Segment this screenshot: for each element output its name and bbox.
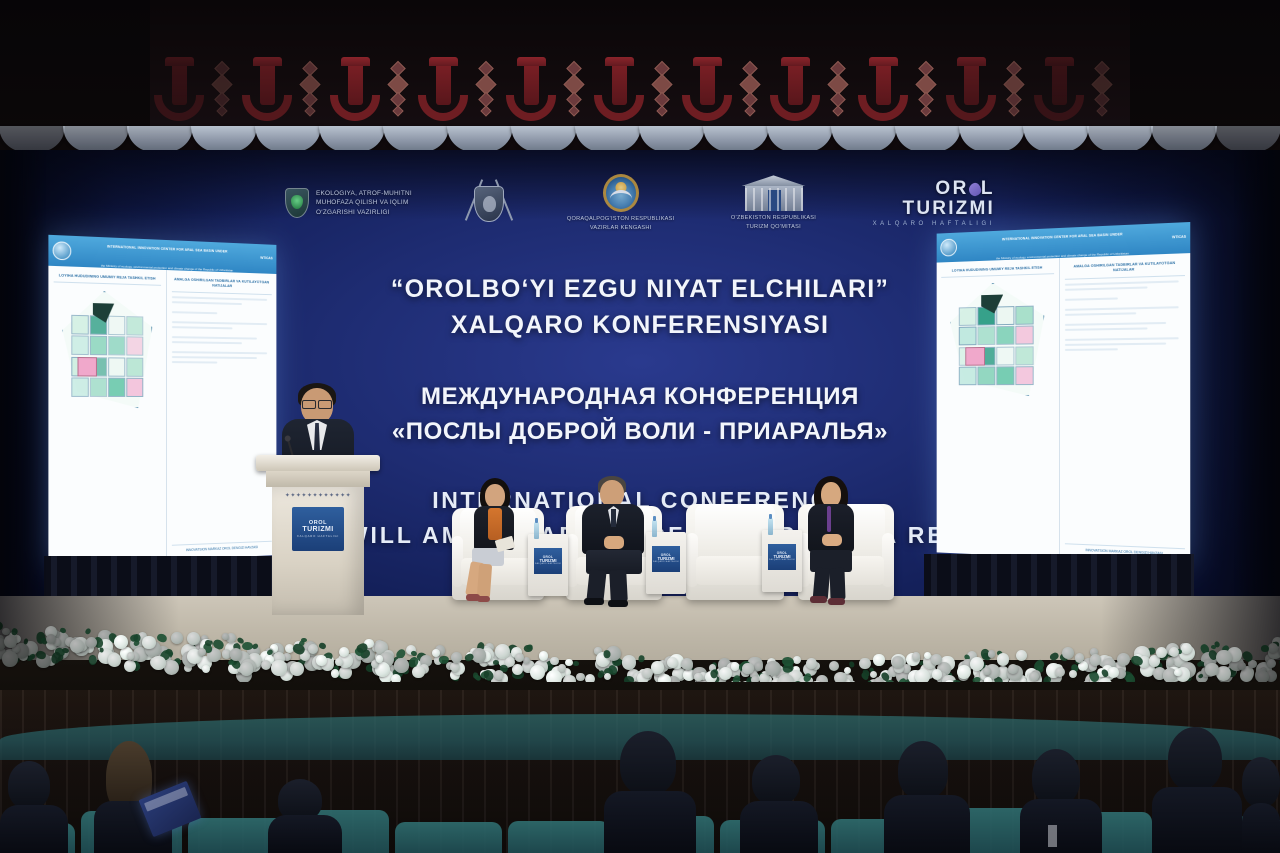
white-rose	[472, 648, 487, 663]
white-rose	[1098, 678, 1111, 682]
fringe-scallop	[63, 126, 129, 152]
white-rose	[171, 632, 183, 644]
side-table-2: OROL TURIZMI XALQARO HAFTALIGI	[646, 532, 686, 594]
foliage-leaf	[1124, 672, 1136, 682]
fringe-scallop	[895, 126, 961, 152]
white-rose	[271, 660, 286, 675]
suzani-flare-icon	[781, 57, 810, 66]
white-rose	[970, 657, 984, 671]
white-rose	[1256, 671, 1269, 682]
white-rose	[290, 662, 304, 676]
slide-right-column: AMALGA OSHIRILGAN TADBIRLAR VA KUTILAYOT…	[1059, 253, 1190, 564]
slide-org-mark: WTICAS	[260, 257, 272, 261]
presentation-screen-right: INTERNATIONAL INNOVATION CENTER FOR ARAL…	[937, 222, 1191, 564]
foliage-leaf	[99, 647, 104, 653]
suzani-hook-icon	[770, 59, 820, 121]
white-rose	[873, 654, 884, 665]
slide-body-left: LOYIHA HUDUDINING UMUMIY REJA TASHKIL ET…	[48, 266, 276, 565]
site-parcel	[1016, 305, 1034, 324]
conference-stage-photo: EKOLOGIYA, ATROF-MUHITNI MUHOFAZA QILISH…	[0, 0, 1280, 853]
white-rose	[127, 652, 135, 660]
fringe-scallop	[831, 126, 897, 152]
suzani-hook-icon	[242, 59, 292, 121]
white-rose	[394, 658, 408, 672]
podium-neck	[266, 471, 370, 487]
white-rose	[585, 674, 595, 682]
fringe-scallop	[191, 126, 257, 152]
site-parcel	[71, 377, 88, 397]
water-bottle	[652, 520, 657, 537]
table-plaque-line3: XALQARO HAFTALIGI	[653, 562, 679, 564]
suzani-diamond-icon	[916, 61, 936, 117]
slide-left-column: LOYIHA HUDUDINING UMUMIY REJA TASHKIL ET…	[937, 258, 1060, 558]
side-table-3: OROL TURIZMI XALQARO HAFTALIGI	[762, 530, 802, 592]
white-rose	[731, 662, 739, 670]
white-rose	[793, 656, 801, 664]
side-table-1: OROL TURIZMI XALQARO HAFTALIGI	[528, 534, 568, 596]
suzani-diamond-icon	[564, 61, 584, 117]
white-rose	[834, 672, 847, 682]
suzani-flare-icon	[693, 57, 722, 66]
fringe-scallop	[127, 126, 193, 152]
suzani-flare-icon	[341, 57, 370, 66]
white-rose	[1008, 664, 1018, 674]
globe-icon	[940, 239, 957, 257]
white-rose	[151, 656, 165, 670]
white-rose	[230, 648, 242, 660]
slide-footer-note: INNOVATSION MARKAZ OROL DENGIZI HAVZASI	[171, 541, 271, 554]
suzani-hook-icon	[154, 59, 204, 121]
slide-header-line1: INTERNATIONAL INNOVATION CENTER FOR ARAL…	[107, 244, 228, 253]
white-rose	[984, 677, 992, 682]
audience-member-tablet	[88, 733, 184, 853]
suzani-hook-icon	[506, 59, 556, 121]
white-rose	[1016, 650, 1027, 661]
white-rose	[778, 674, 794, 682]
slide-body-right: LOYIHA HUDUDINING UMUMIY REJA TASHKIL ET…	[937, 253, 1191, 564]
audience-member-7	[268, 779, 342, 853]
table-plaque-2: OROL TURIZMI XALQARO HAFTALIGI	[652, 546, 680, 572]
site-plan-map	[941, 279, 1053, 399]
white-rose	[1117, 653, 1130, 666]
panelist-2	[578, 476, 652, 606]
white-rose	[931, 654, 942, 665]
globe-icon	[53, 241, 72, 260]
white-rose	[1062, 647, 1074, 659]
site-highlight-parcel	[78, 357, 97, 377]
suzani-flare-icon	[253, 57, 282, 66]
white-rose	[957, 665, 971, 679]
white-rose	[316, 655, 327, 666]
suzani-flare-icon	[957, 57, 986, 66]
site-parcel	[959, 367, 977, 386]
white-rose	[391, 674, 401, 682]
white-rose	[719, 667, 732, 680]
site-parcel	[997, 326, 1015, 345]
site-parcel	[90, 378, 107, 398]
white-rose	[983, 667, 991, 675]
suzani-hook-icon	[594, 59, 644, 121]
white-rose	[932, 669, 942, 679]
ceiling-valance	[0, 0, 1280, 160]
site-parcel	[71, 315, 88, 335]
presentation-screen-left: INTERNATIONAL INNOVATION CENTER FOR ARAL…	[48, 235, 276, 565]
water-bottle	[534, 522, 539, 539]
foliage-leaf	[624, 676, 634, 682]
suzani-motif-unit	[150, 42, 238, 127]
white-rose	[335, 658, 343, 666]
site-parcel	[108, 357, 125, 377]
suzani-motif-unit	[238, 42, 326, 127]
slide-left-column-heading: LOYIHA HUDUDINING UMUMIY REJA TASHKIL ET…	[941, 265, 1053, 278]
audience-member-8	[1242, 757, 1280, 853]
fringe-scallop	[447, 126, 513, 152]
site-parcel	[90, 336, 107, 356]
site-parcel	[108, 378, 125, 398]
foliage-leaf	[603, 649, 610, 658]
table-plaque-3: OROL TURIZMI XALQARO HAFTALIGI	[768, 544, 796, 570]
white-rose	[667, 657, 678, 668]
white-rose	[1216, 650, 1231, 665]
slide-right-column-heading: AMALGA OSHIRILGAN TADBIRLAR VA KUTILAYOT…	[171, 277, 271, 295]
audience-member-4	[884, 741, 970, 853]
site-plan-map	[54, 287, 161, 411]
white-rose	[451, 652, 462, 663]
site-parcel	[997, 346, 1015, 365]
audience-member-5	[1020, 749, 1102, 853]
foliage-leaf	[318, 641, 327, 649]
white-rose	[755, 662, 763, 670]
water-bottle	[768, 518, 773, 535]
white-rose	[558, 664, 565, 671]
white-rose	[1267, 659, 1276, 668]
foliage-leaf	[1049, 651, 1060, 661]
white-rose	[240, 662, 254, 676]
fringe-scallop	[255, 126, 321, 152]
white-rose	[142, 636, 155, 649]
site-parcel	[108, 315, 125, 335]
white-rose	[565, 659, 572, 666]
site-parcel	[71, 336, 88, 356]
foliage-leaf	[463, 653, 474, 663]
foliage-leaf	[23, 638, 29, 644]
white-rose	[859, 658, 871, 670]
site-parcel	[108, 336, 125, 356]
fringe-scallop	[383, 126, 449, 152]
suzani-hook-icon	[330, 59, 380, 121]
white-rose	[694, 673, 702, 681]
suzani-flare-icon	[165, 57, 194, 66]
podium-plaque: OROL TURIZMI XALQARO HAFTALIGI	[292, 507, 344, 551]
white-rose	[1075, 653, 1084, 662]
white-rose	[912, 652, 920, 660]
slide-header-line1: INTERNATIONAL INNOVATION CENTER FOR ARAL…	[1002, 232, 1123, 241]
fringe-scallop	[575, 126, 641, 152]
panelist-3	[802, 476, 870, 604]
suzani-ornament-row	[150, 42, 1130, 127]
foliage-leaf	[573, 661, 580, 666]
suzani-hook-icon	[418, 59, 468, 121]
podium-top-surface	[256, 455, 380, 471]
podium-plaque-line3: XALQARO HAFTALIGI	[297, 535, 339, 538]
fringe-scallop	[1087, 126, 1153, 152]
slide-org-mark: WTICAS	[1172, 236, 1186, 240]
suzani-motif-unit	[678, 42, 766, 127]
audience-seat	[395, 822, 502, 853]
white-rose	[108, 653, 121, 666]
suzani-motif-unit	[502, 42, 590, 127]
suzani-motif-unit	[766, 42, 854, 127]
floral-stage-border	[0, 604, 1280, 682]
fringe-scallop	[511, 126, 577, 152]
suzani-hook-icon	[858, 59, 908, 121]
table-plaque-line3: XALQARO HAFTALIGI	[535, 564, 561, 566]
suzani-motif-unit	[326, 42, 414, 127]
white-rose	[1108, 667, 1119, 678]
white-rose	[1090, 654, 1101, 665]
suzani-diamond-icon	[476, 61, 496, 117]
suzani-flare-icon	[869, 57, 898, 66]
suzani-diamond-icon	[300, 61, 320, 117]
white-rose	[1055, 667, 1065, 677]
white-rose	[202, 665, 210, 673]
white-rose	[261, 660, 271, 670]
white-rose	[874, 677, 884, 682]
white-rose	[765, 661, 780, 676]
audience-member-2	[604, 731, 696, 853]
foliage-leaf	[849, 661, 855, 668]
foliage-leaf	[972, 676, 981, 682]
white-rose	[1029, 672, 1039, 682]
white-rose	[1240, 669, 1253, 682]
white-rose	[331, 669, 340, 678]
white-rose	[563, 675, 575, 682]
white-rose	[1174, 669, 1181, 676]
site-parcel	[978, 326, 996, 345]
foliage-leaf	[638, 655, 645, 663]
slide-left-column: LOYIHA HUDUDINING UMUMIY REJA TASHKIL ET…	[48, 266, 166, 565]
suzani-motif-unit	[942, 42, 1030, 127]
panelist-1	[466, 478, 532, 602]
white-rose	[412, 666, 425, 679]
suzani-diamond-icon	[388, 61, 408, 117]
slide-left-column-heading: LOYIHA HUDUDINING UMUMIY REJA TASHKIL ET…	[54, 273, 161, 286]
suzani-flare-icon	[605, 57, 634, 66]
fringe-scallop	[959, 126, 1025, 152]
suzani-diamond-icon	[212, 61, 232, 117]
fringe-scallop	[703, 126, 769, 152]
fringe-scallop	[1023, 126, 1089, 152]
suzani-motif-unit	[414, 42, 502, 127]
white-rose	[576, 673, 585, 682]
audience-member-6	[1152, 727, 1242, 853]
white-rose	[988, 650, 996, 658]
white-rose	[751, 676, 759, 682]
fringe-scallop	[767, 126, 833, 152]
white-rose	[622, 655, 637, 670]
suzani-motif-unit	[1030, 42, 1118, 127]
white-rose	[651, 661, 663, 673]
white-rose	[1205, 663, 1218, 676]
fringe-scallop	[639, 126, 705, 152]
fringe-scallop	[1151, 126, 1217, 152]
site-parcel	[126, 357, 143, 377]
site-parcel	[978, 366, 996, 385]
suzani-hook-icon	[682, 59, 732, 121]
white-rose	[892, 656, 903, 667]
white-rose	[1069, 670, 1077, 678]
table-plaque-line3: XALQARO HAFTALIGI	[769, 560, 795, 562]
slide-right-column-heading: AMALGA OSHIRILGAN TADBIRLAR VA KUTILAYOT…	[1064, 261, 1185, 280]
site-parcel	[959, 307, 977, 326]
foliage-leaf	[89, 655, 98, 665]
suzani-motif-unit	[590, 42, 678, 127]
fringe-scallop	[1215, 126, 1280, 152]
speaker-podium: ✦✦✦✦✦✦✦✦✦✦✦✦ OROL TURIZMI XALQARO HAFTAL…	[262, 455, 374, 615]
suzani-motif-unit	[854, 42, 942, 127]
white-rose	[550, 657, 558, 665]
white-rose	[2, 651, 18, 667]
site-parcel	[959, 327, 977, 346]
podium-star-ornament: ✦✦✦✦✦✦✦✦✦✦✦✦	[274, 491, 362, 500]
foliage-leaf	[1261, 645, 1269, 652]
white-rose	[530, 665, 545, 680]
site-parcel	[1016, 366, 1034, 385]
slide-right-column: AMALGA OSHIRILGAN TADBIRLAR VA KUTILAYOT…	[166, 270, 276, 560]
white-rose	[915, 669, 930, 682]
suzani-diamond-icon	[652, 61, 672, 117]
white-rose	[376, 655, 383, 662]
foliage-leaf	[84, 628, 91, 636]
white-rose	[997, 653, 1010, 666]
site-highlight-parcel	[965, 347, 985, 366]
suzani-flare-icon	[517, 57, 546, 66]
white-rose	[86, 637, 97, 648]
eyeglasses-icon	[302, 400, 332, 407]
fringe-scallop	[319, 126, 385, 152]
suzani-diamond-icon	[1004, 61, 1024, 117]
suzani-diamond-icon	[1092, 61, 1112, 117]
white-rose	[494, 670, 504, 680]
site-parcel	[126, 316, 143, 336]
site-parcel	[126, 378, 143, 397]
audience-seat	[508, 821, 610, 853]
audience-member-1	[0, 761, 70, 853]
suzani-hook-icon	[946, 59, 996, 121]
table-plaque-1: OROL TURIZMI XALQARO HAFTALIGI	[534, 548, 562, 574]
suzani-flare-icon	[1045, 57, 1074, 66]
site-parcel	[1016, 346, 1034, 365]
site-parcel	[1016, 326, 1034, 345]
white-rose	[642, 668, 652, 678]
white-rose	[829, 661, 839, 671]
site-parcel	[126, 336, 143, 356]
white-rose	[164, 660, 179, 675]
site-parcel	[997, 366, 1015, 385]
audience-member-3	[740, 757, 818, 853]
suzani-diamond-icon	[740, 61, 760, 117]
white-rose	[1166, 658, 1174, 666]
suzani-hook-icon	[1034, 59, 1084, 121]
suzani-flare-icon	[429, 57, 458, 66]
site-parcel	[997, 306, 1015, 325]
fringe-scallop	[0, 126, 65, 152]
podium-plaque-line2: TURIZMI	[302, 526, 333, 534]
white-rose	[546, 670, 562, 682]
suzani-diamond-icon	[828, 61, 848, 117]
